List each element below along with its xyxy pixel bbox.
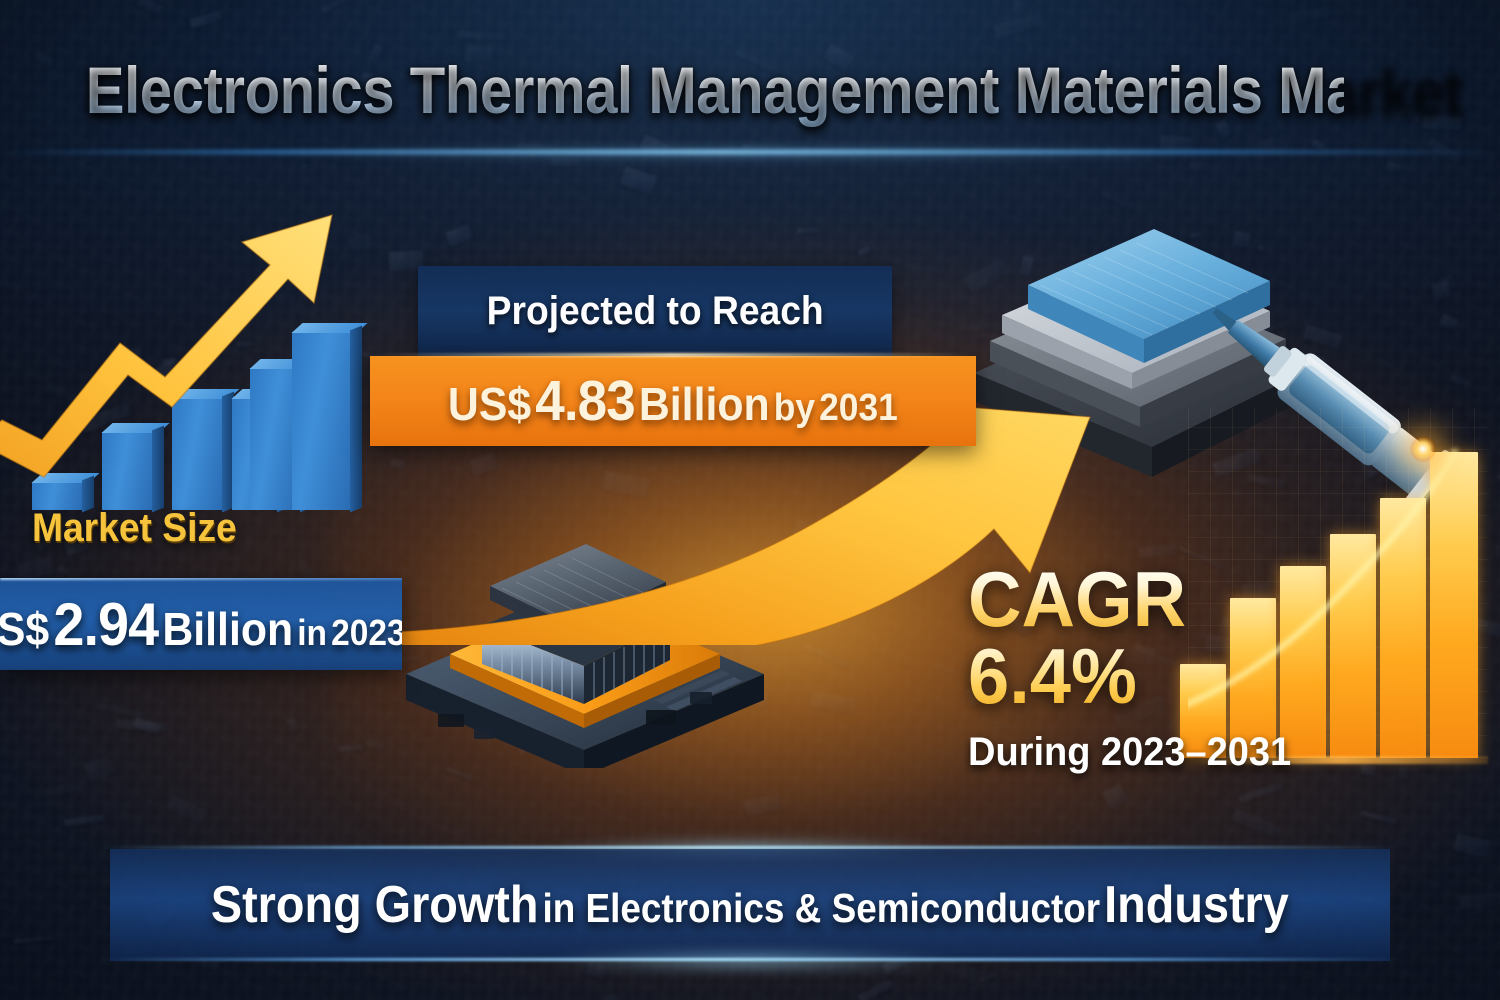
vignette-overlay [0,0,1500,1000]
infographic-canvas: Electronics Thermal Management Materials… [0,0,1500,1000]
